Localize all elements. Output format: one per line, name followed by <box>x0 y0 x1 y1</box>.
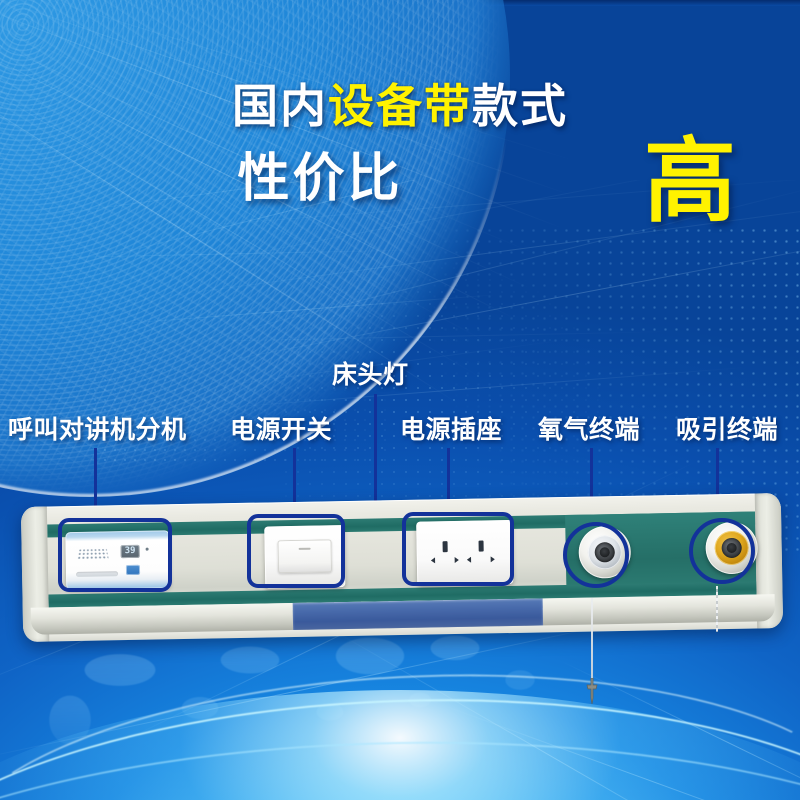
bedside-light-diffuser <box>293 598 543 630</box>
highlight-circle-suction <box>689 518 755 584</box>
highlight-box-intercom <box>58 518 172 592</box>
promo-banner: 国内设备带款式 性价比 高 呼叫对讲机分机电源开关床头灯电源插座氧气终端吸引终端… <box>0 0 800 800</box>
callout-label-oxygen: 氧气终端 <box>538 415 640 445</box>
hose-connector-icon <box>582 678 602 704</box>
callout-leader-lines <box>0 0 800 800</box>
callout-label-intercom: 呼叫对讲机分机 <box>8 415 187 445</box>
highlight-box-switch <box>247 514 345 588</box>
callout-label-socket: 电源插座 <box>400 415 502 445</box>
callout-label-suction: 吸引终端 <box>676 415 778 445</box>
highlight-circle-oxygen <box>563 522 629 588</box>
suction-hose <box>716 586 718 632</box>
highlight-box-socket <box>402 512 514 586</box>
callout-label-switch: 电源开关 <box>230 415 332 445</box>
callout-label-bedlight: 床头灯 <box>332 360 409 390</box>
oxygen-hose <box>591 598 593 690</box>
